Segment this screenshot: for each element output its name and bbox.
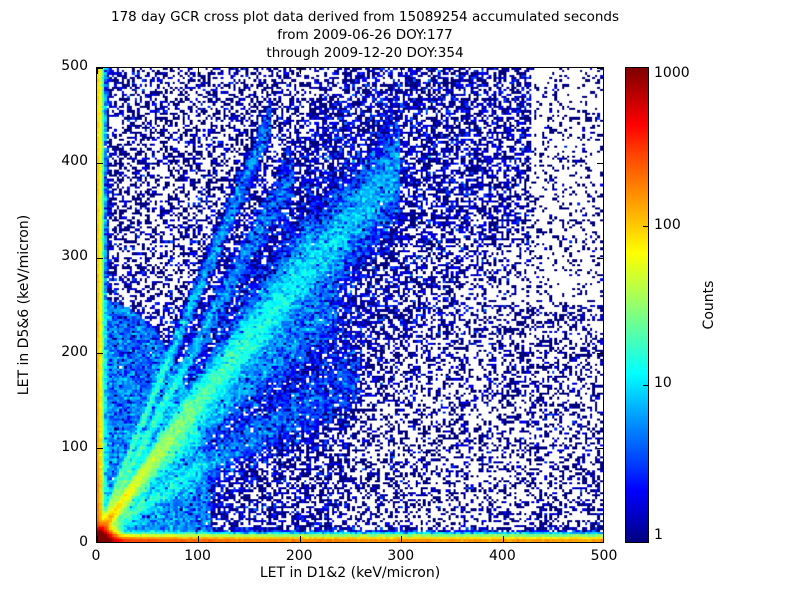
y-axis-label-container: LET in D5&6 (keV/micron)	[12, 67, 36, 543]
y-tick-2	[97, 353, 103, 354]
colorbar-tick-1	[643, 385, 648, 386]
colorbar-tick-2	[643, 226, 648, 227]
title-line-1: 178 day GCR cross plot data derived from…	[0, 8, 730, 26]
x-tick-label-2: 200	[264, 548, 334, 564]
x-tick-3	[401, 68, 402, 74]
x-tick-2	[300, 68, 301, 74]
scatter-plot-axes	[96, 67, 604, 543]
y-tick-label-2: 200	[28, 344, 88, 360]
scatter-plot-data-layer	[97, 68, 603, 542]
y-tick-4	[97, 163, 103, 164]
title-line-2: from 2009-06-26 DOY:177	[0, 26, 730, 44]
x-tick-2	[300, 536, 301, 542]
x-tick-label-3: 300	[366, 548, 436, 564]
figure-title: 178 day GCR cross plot data derived from…	[0, 8, 730, 62]
y-axis-label: LET in D5&6 (keV/micron)	[16, 215, 32, 395]
colorbar-tick-label-2: 100	[654, 217, 681, 233]
x-tick-4	[503, 536, 504, 542]
colorbar	[625, 67, 649, 543]
colorbar-tick-label-1: 10	[654, 375, 672, 391]
y-tick-label-5: 500	[28, 58, 88, 74]
x-tick-4	[503, 68, 504, 74]
x-tick-label-5: 500	[569, 548, 639, 564]
y-tick-3	[597, 258, 603, 259]
y-tick-1	[597, 448, 603, 449]
x-tick-0	[96, 536, 97, 542]
y-tick-label-0: 0	[28, 534, 88, 550]
x-tick-label-4: 400	[467, 548, 537, 564]
x-tick-1	[198, 536, 199, 542]
x-tick-3	[401, 536, 402, 542]
colorbar-tick-label-0: 1	[654, 527, 663, 543]
x-tick-label-1: 100	[163, 548, 233, 564]
y-tick-2	[597, 353, 603, 354]
colorbar-gradient	[626, 68, 648, 542]
y-tick-5	[597, 67, 603, 68]
y-tick-1	[97, 448, 103, 449]
figure-canvas: 178 day GCR cross plot data derived from…	[0, 0, 800, 600]
colorbar-label-container: Counts	[698, 67, 720, 543]
colorbar-tick-label-3: 1000	[654, 65, 690, 81]
colorbar-label: Counts	[701, 281, 717, 330]
x-tick-0	[96, 68, 97, 74]
title-line-3: through 2009-12-20 DOY:354	[0, 44, 730, 62]
y-tick-label-3: 300	[28, 248, 88, 264]
y-tick-3	[97, 258, 103, 259]
x-axis-label: LET in D1&2 (keV/micron)	[96, 565, 604, 581]
x-tick-1	[198, 68, 199, 74]
x-tick-label-0: 0	[61, 548, 131, 564]
y-tick-label-4: 400	[28, 153, 88, 169]
y-tick-label-1: 100	[28, 439, 88, 455]
y-tick-5	[97, 67, 103, 68]
y-tick-4	[597, 163, 603, 164]
